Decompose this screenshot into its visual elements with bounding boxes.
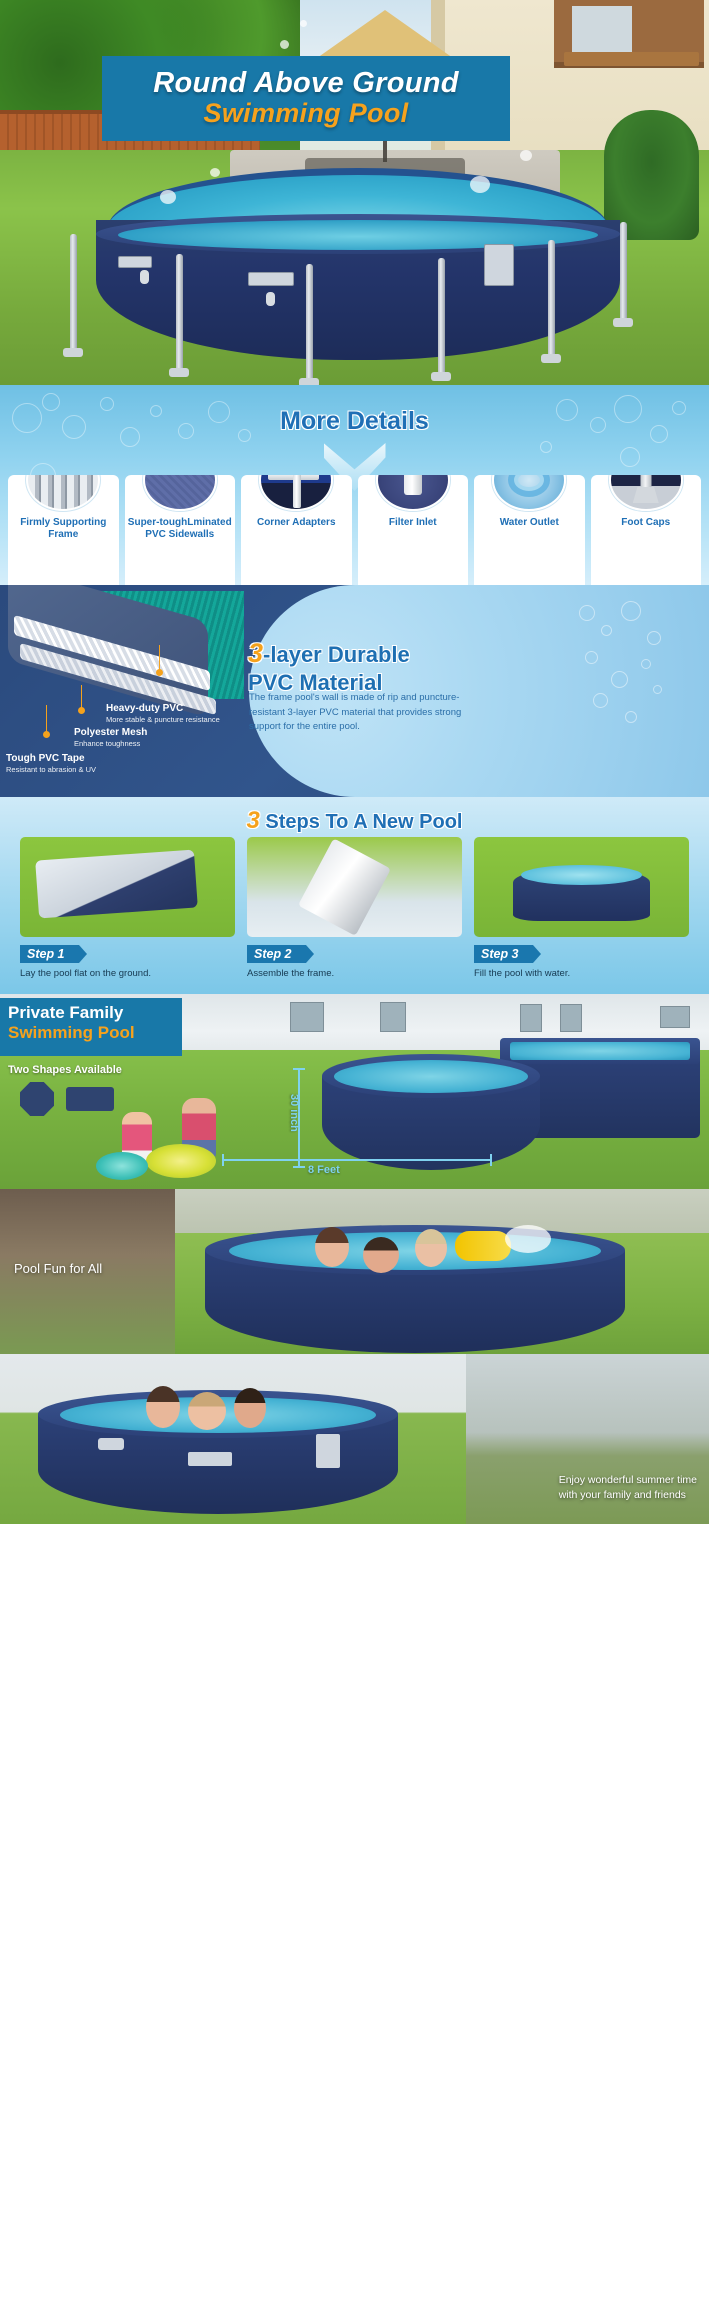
callout-title: Tough PVC Tape (6, 753, 96, 765)
more-details-title: More Details (0, 407, 709, 436)
feature-card-label: Corner Adapters (254, 517, 339, 529)
hero-pool-surface (118, 220, 598, 250)
summer-caption-line2: with your family and friends (559, 1488, 697, 1504)
callout-subtitle: More stable & puncture resistance (106, 715, 220, 724)
step-1-photo (20, 837, 235, 937)
pool-leg (438, 258, 445, 376)
callout-leader (81, 685, 82, 709)
pool-leg (176, 254, 183, 372)
pool-float-icon (146, 1144, 216, 1178)
pool-valve-icon (266, 292, 275, 306)
callout-subtitle: Resistant to abrasion & UV (6, 765, 96, 774)
pool-leg (620, 222, 627, 322)
step-3-photo (474, 837, 689, 937)
callout-heavy-duty-pvc: Heavy-duty PVC More stable & puncture re… (106, 703, 220, 724)
more-details-section: More Details Firmly Supporting Frame Sup… (0, 385, 709, 585)
step-3-caption: Fill the pool with water. (474, 968, 689, 979)
callout-leader (46, 705, 47, 733)
step-list: Step 1 Lay the pool flat on the ground. … (20, 837, 689, 979)
step-1-caption: Lay the pool flat on the ground. (20, 968, 235, 979)
feature-card-list: Firmly Supporting Frame Super-toughLmina… (8, 475, 701, 585)
feature-card-label: Foot Caps (618, 517, 673, 529)
callout-polyester-mesh: Polyester Mesh Enhance toughness (74, 727, 147, 748)
family-section: 30 inch 8 Feet Private Family Swimming P… (0, 994, 709, 1189)
pool-float-icon (96, 1152, 148, 1180)
family-banner: Private Family Swimming Pool (0, 998, 182, 1056)
pvc-title-rest: -layer Durable (263, 642, 410, 667)
product-detail-page: Round Above Ground Swimming Pool More De… (0, 0, 709, 1524)
pvc-title: 3-layer Durable PVC Material (248, 637, 410, 697)
step-2-caption: Assemble the frame. (247, 968, 462, 979)
width-dimension-label: 8 Feet (308, 1164, 340, 1176)
steps-title-number: 3 (247, 807, 260, 834)
pool-warning-label (248, 272, 294, 286)
feature-card-filter-inlet[interactable]: Filter Inlet (358, 475, 469, 585)
step-2-badge: Step 2 (247, 945, 306, 963)
step-item: Step 3 Fill the pool with water. (474, 837, 689, 979)
water-outlet-icon (492, 475, 566, 511)
feature-card-label: Filter Inlet (386, 517, 440, 529)
pool-leg (548, 240, 555, 358)
callout-title: Polyester Mesh (74, 727, 147, 739)
family-title-line1: Private Family (8, 1003, 174, 1023)
feature-card-corner-adapters[interactable]: Corner Adapters (241, 475, 352, 585)
pool-spec-label (484, 244, 514, 286)
height-dimension-label: 30 inch (288, 1094, 300, 1132)
feature-card-water-outlet[interactable]: Water Outlet (474, 475, 585, 585)
hero-pergola (564, 52, 699, 66)
summer-pool (38, 1390, 398, 1514)
step-1-badge: Step 1 (20, 945, 79, 963)
step-item: Step 2 Assemble the frame. (247, 837, 462, 979)
feature-card-sidewalls[interactable]: Super-toughLminated PVC Sidewalls (125, 475, 236, 585)
family-title-line2: Swimming Pool (8, 1023, 174, 1043)
pool-fun-section: Pool Fun for All (0, 1189, 709, 1354)
pvc-material-section: Heavy-duty PVC More stable & puncture re… (0, 585, 709, 797)
step-3-badge: Step 3 (474, 945, 533, 963)
steps-title: 3 Steps To A New Pool (0, 807, 709, 835)
hero-title-line2: Swimming Pool (204, 98, 409, 129)
hero-title-line1: Round Above Ground (153, 68, 459, 98)
pool-sticker (118, 256, 152, 268)
hero-banner: Round Above Ground Swimming Pool (102, 56, 510, 141)
foot-cap-icon (609, 475, 683, 511)
round-pool (322, 1054, 540, 1170)
width-dimension-line (222, 1159, 492, 1161)
two-shapes-label: Two Shapes Available (8, 1064, 122, 1076)
rectangle-shape-icon (66, 1087, 114, 1111)
callout-leader (159, 645, 160, 671)
fun-pool (205, 1225, 625, 1353)
hero-section: Round Above Ground Swimming Pool (0, 0, 709, 385)
summer-section: Enjoy wonderful summer time with your fa… (0, 1354, 709, 1524)
pool-leg (70, 234, 77, 352)
feature-card-frame[interactable]: Firmly Supporting Frame (8, 475, 119, 585)
step-2-photo (247, 837, 462, 937)
sidewall-icon (143, 475, 217, 511)
pvc-title-number: 3 (248, 638, 263, 668)
frame-icon (26, 475, 100, 511)
steps-section: 3 Steps To A New Pool Step 1 Lay the poo… (0, 797, 709, 994)
callout-subtitle: Enhance toughness (74, 739, 147, 748)
fun-caption: Pool Fun for All (14, 1261, 102, 1276)
summer-caption: Enjoy wonderful summer time with your fa… (559, 1473, 697, 1505)
feature-card-foot-caps[interactable]: Foot Caps (591, 475, 702, 585)
filter-inlet-icon (376, 475, 450, 511)
feature-card-label: Super-toughLminated PVC Sidewalls (125, 517, 236, 540)
feature-card-label: Water Outlet (497, 517, 562, 529)
callout-tough-pvc-tape: Tough PVC Tape Resistant to abrasion & U… (6, 753, 96, 774)
steps-title-rest: Steps To A New Pool (265, 811, 462, 833)
summer-caption-line1: Enjoy wonderful summer time (559, 1473, 697, 1489)
feature-card-label: Firmly Supporting Frame (8, 517, 119, 540)
callout-title: Heavy-duty PVC (106, 703, 220, 715)
step-item: Step 1 Lay the pool flat on the ground. (20, 837, 235, 979)
hero-pool (48, 168, 668, 383)
corner-adapter-icon (259, 475, 333, 511)
pool-valve-icon (140, 270, 149, 284)
pvc-description: The frame pool's wall is made of rip and… (249, 691, 479, 735)
pool-leg (306, 264, 313, 382)
